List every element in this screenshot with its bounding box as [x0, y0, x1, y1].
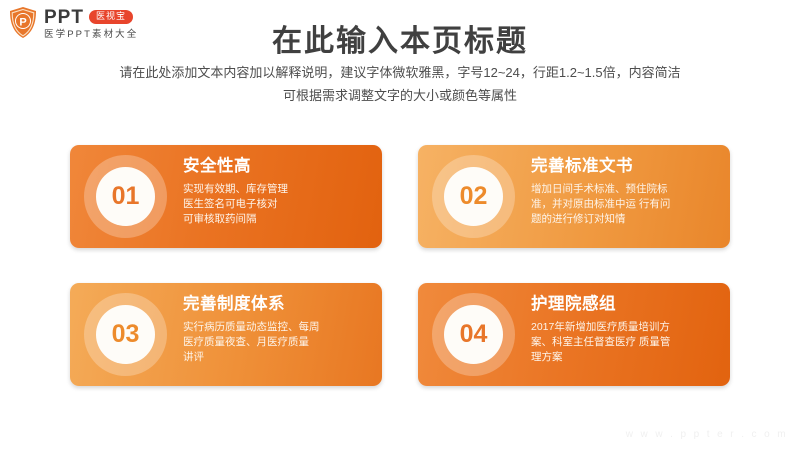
number-badge-inner: 01 [96, 167, 155, 226]
card-text: 实现有效期、库存管理 医生签名可电子核对 可审核取药间隔 [183, 182, 374, 228]
number-badge-inner: 02 [444, 167, 503, 226]
card-text-line: 实现有效期、库存管理 [183, 182, 374, 197]
number-badge-ring: 02 [432, 155, 515, 238]
number-badge-ring: 01 [84, 155, 167, 238]
card-item-01[interactable]: 01 安全性高 实现有效期、库存管理 医生签名可电子核对 可审核取药间隔 [70, 145, 382, 248]
subtitle-line-2: 可根据需求调整文字的大小或颜色等属性 [0, 85, 800, 108]
card-text: 2017年新增加医疗质量培训方 案、科室主任督查医疗 质量管 理方案 [531, 320, 722, 366]
card-text-line: 实行病历质量动态监控、每周 [183, 320, 374, 335]
page-subtitle: 请在此处添加文本内容加以解释说明，建议字体微软雅黑，字号12~24，行距1.2~… [0, 62, 800, 108]
card-item-02[interactable]: 02 完善标准文书 增加日间手术标准、预住院标 准，并对原由标准中运 行有问 题… [418, 145, 730, 248]
card-text-line: 讲评 [183, 350, 374, 365]
card-heading: 护理院感组 [531, 295, 722, 315]
card-number: 01 [112, 182, 140, 211]
card-row-2: 03 完善制度体系 实行病历质量动态监控、每周 医疗质量夜查、月医疗质量 讲评 … [70, 283, 730, 386]
card-text-line: 准，并对原由标准中运 行有问 [531, 197, 722, 212]
card-text-line: 题的进行修订对知情 [531, 212, 722, 227]
card-item-03[interactable]: 03 完善制度体系 实行病历质量动态监控、每周 医疗质量夜查、月医疗质量 讲评 [70, 283, 382, 386]
card-number: 02 [460, 182, 488, 211]
card-body: 安全性高 实现有效期、库存管理 医生签名可电子核对 可审核取药间隔 [183, 157, 374, 227]
card-item-04[interactable]: 04 护理院感组 2017年新增加医疗质量培训方 案、科室主任督查医疗 质量管 … [418, 283, 730, 386]
card-heading: 完善标准文书 [531, 157, 722, 177]
card-number: 04 [460, 320, 488, 349]
card-text-line: 可审核取药间隔 [183, 212, 374, 227]
card-body: 护理院感组 2017年新增加医疗质量培训方 案、科室主任督查医疗 质量管 理方案 [531, 295, 722, 365]
card-body: 完善制度体系 实行病历质量动态监控、每周 医疗质量夜查、月医疗质量 讲评 [183, 295, 374, 365]
card-text: 实行病历质量动态监控、每周 医疗质量夜查、月医疗质量 讲评 [183, 320, 374, 366]
number-badge-inner: 04 [444, 305, 503, 364]
card-row-1: 01 安全性高 实现有效期、库存管理 医生签名可电子核对 可审核取药间隔 02 … [70, 145, 730, 248]
card-body: 完善标准文书 增加日间手术标准、预住院标 准，并对原由标准中运 行有问 题的进行… [531, 157, 722, 227]
card-heading: 安全性高 [183, 157, 374, 177]
card-text-line: 案、科室主任督查医疗 质量管 [531, 335, 722, 350]
card-text-line: 增加日间手术标准、预住院标 [531, 182, 722, 197]
number-badge-ring: 03 [84, 293, 167, 376]
page-title: 在此输入本页标题 [0, 16, 800, 60]
card-text: 增加日间手术标准、预住院标 准，并对原由标准中运 行有问 题的进行修订对知情 [531, 182, 722, 228]
number-badge-inner: 03 [96, 305, 155, 364]
card-number: 03 [112, 320, 140, 349]
subtitle-line-1: 请在此处添加文本内容加以解释说明，建议字体微软雅黑，字号12~24，行距1.2~… [0, 62, 800, 85]
card-text-line: 2017年新增加医疗质量培训方 [531, 320, 722, 335]
number-badge-ring: 04 [432, 293, 515, 376]
site-watermark: w w w . p p t e r . c o m [626, 429, 788, 440]
card-grid: 01 安全性高 实现有效期、库存管理 医生签名可电子核对 可审核取药间隔 02 … [70, 145, 730, 386]
card-heading: 完善制度体系 [183, 295, 374, 315]
card-text-line: 医疗质量夜查、月医疗质量 [183, 335, 374, 350]
card-text-line: 医生签名可电子核对 [183, 197, 374, 212]
card-text-line: 理方案 [531, 350, 722, 365]
